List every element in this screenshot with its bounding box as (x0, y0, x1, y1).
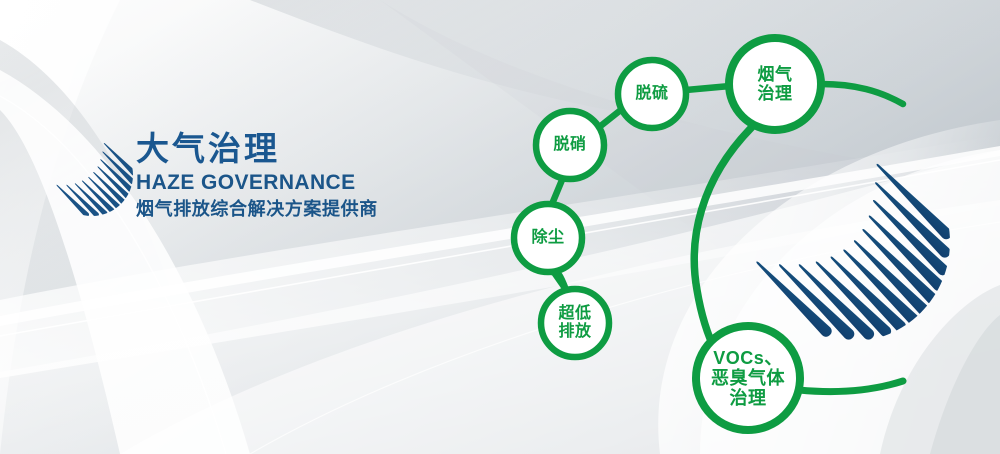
brand-en-title: HAZE GOVERNANCE (136, 172, 466, 193)
air-governance-banner: 大气治理 HAZE GOVERNANCE 烟气排放综合解决方案提供商 超低 排放… (0, 0, 1000, 454)
brand-block: 大气治理 HAZE GOVERNANCE 烟气排放综合解决方案提供商 (136, 132, 466, 218)
brand-cn-title: 大气治理 (136, 132, 466, 165)
brand-cn-subtitle: 烟气排放综合解决方案提供商 (136, 200, 466, 218)
background-artwork (0, 0, 1000, 454)
